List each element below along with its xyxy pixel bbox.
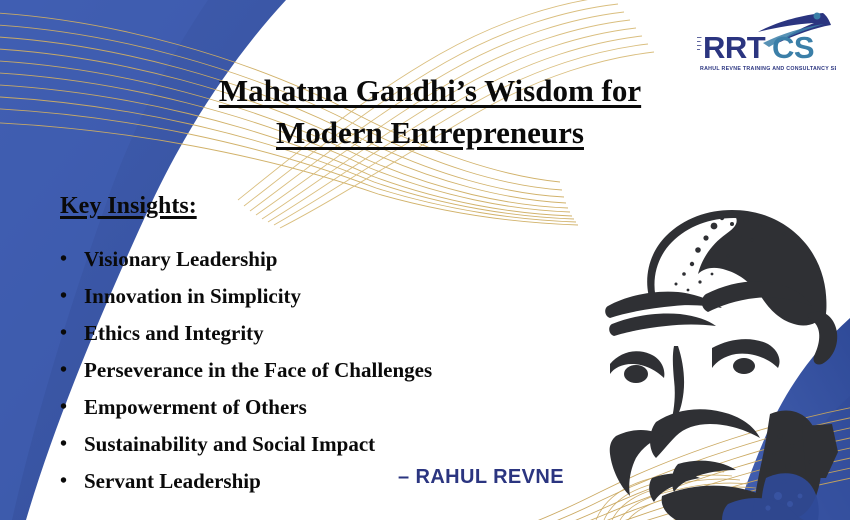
title-line-1: Mahatma Gandhi’s Wisdom for bbox=[120, 70, 740, 112]
list-item: Ethics and Integrity bbox=[56, 315, 616, 352]
title-line-2: Modern Entrepreneurs bbox=[120, 112, 740, 154]
list-item-label: Sustainability and Social Impact bbox=[84, 432, 375, 456]
logo-flourish-icon bbox=[697, 37, 702, 50]
list-item-label: Innovation in Simplicity bbox=[84, 284, 301, 308]
logo-wordmark-cs: CS bbox=[772, 30, 814, 65]
section-heading: Key Insights: bbox=[60, 193, 197, 220]
list-item-label: Visionary Leadership bbox=[84, 247, 278, 271]
list-item: Sustainability and Social Impact bbox=[56, 426, 616, 463]
list-item-label: Empowerment of Others bbox=[84, 395, 307, 419]
list-item: Perseverance in the Face of Challenges bbox=[56, 352, 616, 389]
section-heading-text: Key Insights: bbox=[60, 193, 197, 219]
list-item-label: Ethics and Integrity bbox=[84, 321, 264, 345]
slide-canvas: RRT CS RAHUL REVNE TRAINING AND CONSULTA… bbox=[0, 0, 850, 520]
logo-wordmark-rrt: RRT bbox=[703, 30, 766, 65]
list-item: Empowerment of Others bbox=[56, 389, 616, 426]
list-item-label: Servant Leadership bbox=[84, 469, 261, 493]
attribution-text: – RAHUL REVNE bbox=[398, 466, 564, 489]
rrtcs-logo: RRT CS RAHUL REVNE TRAINING AND CONSULTA… bbox=[688, 6, 836, 78]
list-item: Visionary Leadership bbox=[56, 241, 616, 278]
list-item-label: Perseverance in the Face of Challenges bbox=[84, 358, 432, 382]
page-title: Mahatma Gandhi’s Wisdom for Modern Entre… bbox=[120, 70, 740, 154]
insights-list: Visionary Leadership Innovation in Simpl… bbox=[56, 241, 616, 500]
rrtcs-logo-icon: RRT CS RAHUL REVNE TRAINING AND CONSULTA… bbox=[688, 6, 836, 78]
list-item: Innovation in Simplicity bbox=[56, 278, 616, 315]
title-line-2-text: Modern Entrepreneurs bbox=[276, 115, 584, 150]
title-line-1-text: Mahatma Gandhi’s Wisdom for bbox=[219, 73, 641, 108]
